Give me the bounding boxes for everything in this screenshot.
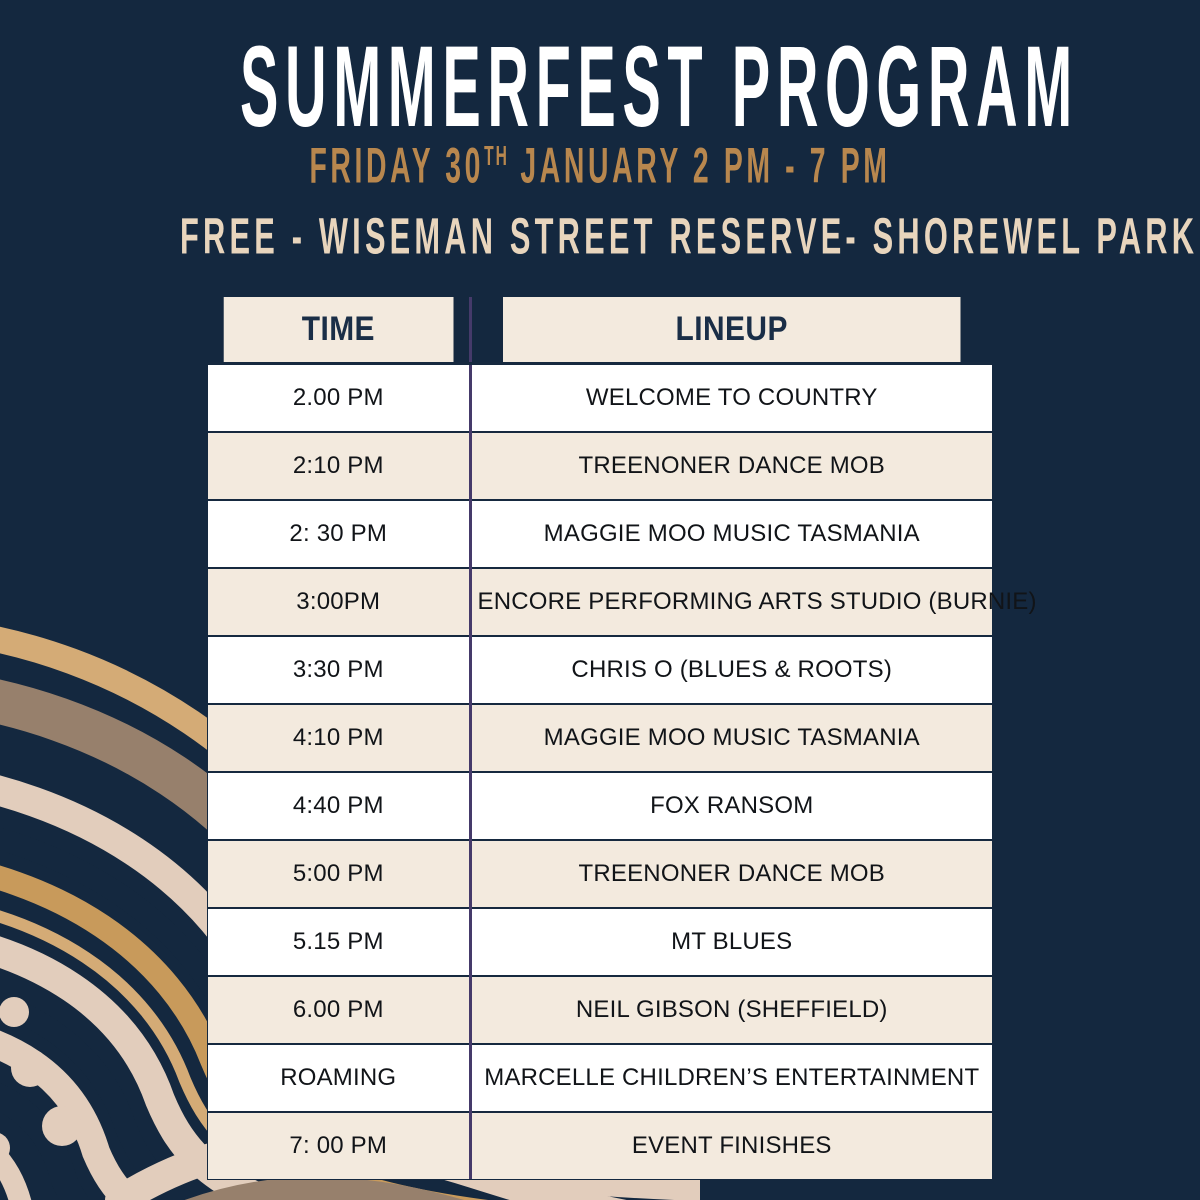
cell-lineup: ENCORE PERFORMING ARTS STUDIO (BURNIE) — [470, 568, 992, 636]
date-ordinal-suffix: TH — [484, 142, 509, 172]
table-row: 2: 30 PMMAGGIE MOO MUSIC TASMANIA — [208, 500, 992, 568]
cell-lineup: TREENONER DANCE MOB — [470, 432, 992, 500]
cell-lineup: MT BLUES — [470, 908, 992, 976]
table-row: 4:40 PMFOX RANSOM — [208, 772, 992, 840]
table-row: 5:00 PMTREENONER DANCE MOB — [208, 840, 992, 908]
table-row: 3:30 PMCHRIS O (BLUES & ROOTS) — [208, 636, 992, 704]
cell-time: 6.00 PM — [208, 976, 470, 1044]
cell-lineup: CHRIS O (BLUES & ROOTS) — [470, 636, 992, 704]
column-header-lineup: LINEUP — [501, 297, 960, 364]
table-row: 2:10 PMTREENONER DANCE MOB — [208, 432, 992, 500]
event-venue-line: FREE - WISEMAN STREET RESERVE- SHOREWEL … — [180, 185, 1020, 266]
cell-time: 3:00PM — [208, 568, 470, 636]
poster-canvas: SUMMERFEST PROGRAM FRIDAY 30TH JANUARY 2… — [0, 0, 1200, 1200]
cell-time: 7: 00 PM — [208, 1112, 470, 1179]
cell-lineup: MAGGIE MOO MUSIC TASMANIA — [470, 500, 992, 568]
cell-time: 2.00 PM — [208, 364, 470, 433]
table-row: 3:00PMENCORE PERFORMING ARTS STUDIO (BUR… — [208, 568, 992, 636]
program-schedule-table: TIME LINEUP 2.00 PMWELCOME TO COUNTRY2:1… — [208, 297, 992, 1179]
table-header-row: TIME LINEUP — [208, 297, 992, 364]
table-head: TIME LINEUP — [208, 297, 992, 364]
cell-lineup: FOX RANSOM — [470, 772, 992, 840]
poster-header: SUMMERFEST PROGRAM FRIDAY 30TH JANUARY 2… — [0, 0, 1200, 255]
cell-lineup: WELCOME TO COUNTRY — [470, 364, 992, 433]
cell-time: 4:40 PM — [208, 772, 470, 840]
cell-lineup: MAGGIE MOO MUSIC TASMANIA — [470, 704, 992, 772]
cell-time: 5.15 PM — [208, 908, 470, 976]
cell-time: 2:10 PM — [208, 432, 470, 500]
table-row: 2.00 PMWELCOME TO COUNTRY — [208, 364, 992, 433]
cell-time: 4:10 PM — [208, 704, 470, 772]
table-row: ROAMINGMARCELLE CHILDREN’S ENTERTAINMENT — [208, 1044, 992, 1112]
table-row: 4:10 PMMAGGIE MOO MUSIC TASMANIA — [208, 704, 992, 772]
cell-time: 3:30 PM — [208, 636, 470, 704]
table-row: 7: 00 PMEVENT FINISHES — [208, 1112, 992, 1179]
table-body: 2.00 PMWELCOME TO COUNTRY2:10 PMTREENONE… — [208, 364, 992, 1180]
table-row: 6.00 PMNEIL GIBSON (SHEFFIELD) — [208, 976, 992, 1044]
cell-time: ROAMING — [208, 1044, 470, 1112]
cell-time: 2: 30 PM — [208, 500, 470, 568]
cell-lineup: TREENONER DANCE MOB — [470, 840, 992, 908]
cell-lineup: NEIL GIBSON (SHEFFIELD) — [470, 976, 992, 1044]
cell-lineup: EVENT FINISHES — [470, 1112, 992, 1179]
cell-lineup: MARCELLE CHILDREN’S ENTERTAINMENT — [470, 1044, 992, 1112]
table-row: 5.15 PMMT BLUES — [208, 908, 992, 976]
cell-time: 5:00 PM — [208, 840, 470, 908]
column-header-time: TIME — [224, 297, 455, 364]
